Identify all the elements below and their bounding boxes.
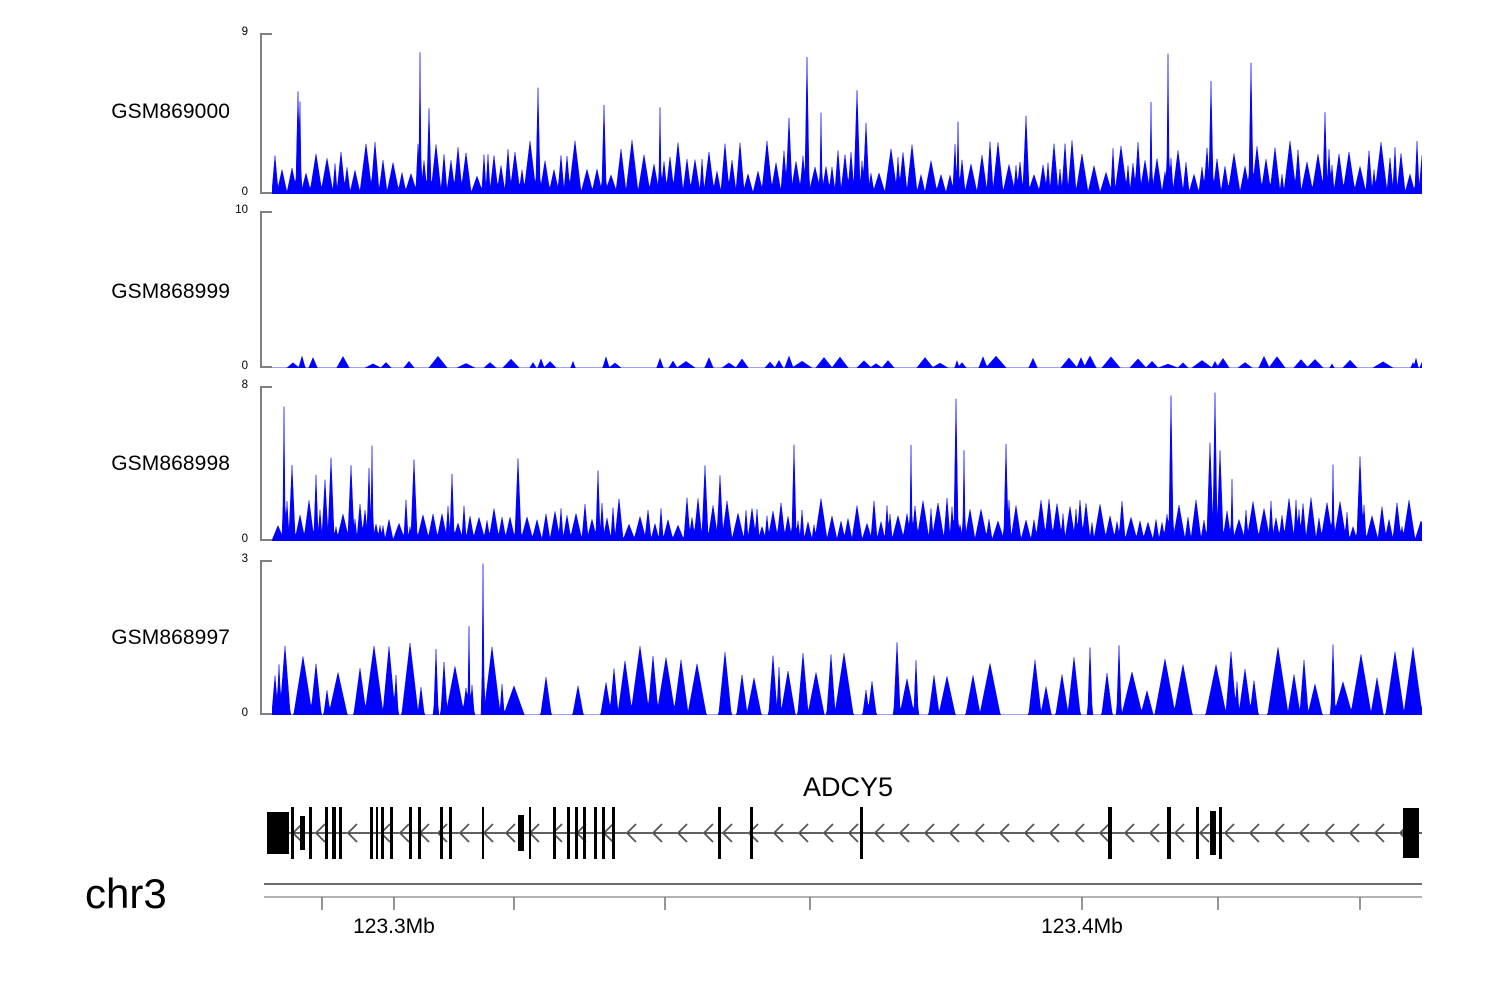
- track-label-gsm869000: GSM869000: [60, 100, 230, 124]
- track-label-gsm868999: GSM868999: [60, 280, 230, 304]
- track-label-gsm868998: GSM868998: [60, 452, 230, 476]
- axis-max-gsm868999: 10: [192, 204, 248, 216]
- coverage-plot-gsm868999[interactable]: [272, 211, 1422, 368]
- axis-min-gsm869000: 0: [192, 186, 248, 198]
- coverage-plot-gsm868998[interactable]: [272, 386, 1422, 541]
- genome-browser-view: GSM86900090GSM868999100GSM86899880GSM868…: [0, 0, 1500, 980]
- axis-bracket-gsm869000: [260, 33, 272, 194]
- track-label-gsm868997: GSM868997: [60, 626, 230, 650]
- coordinate-axis[interactable]: [0, 878, 1500, 978]
- axis-max-gsm869000: 9: [192, 26, 248, 38]
- axis-bracket-gsm868998: [260, 386, 272, 541]
- axis-min-gsm868999: 0: [192, 360, 248, 372]
- axis-tick-label: 123.4Mb: [982, 915, 1182, 939]
- axis-min-gsm868997: 0: [192, 707, 248, 719]
- coverage-plot-gsm869000[interactable]: [272, 33, 1422, 194]
- axis-max-gsm868998: 8: [192, 379, 248, 391]
- axis-min-gsm868998: 0: [192, 533, 248, 545]
- axis-max-gsm868997: 3: [192, 553, 248, 565]
- gene-name-label: ADCY5: [698, 772, 998, 803]
- axis-bracket-gsm868997: [260, 560, 272, 715]
- coverage-plot-gsm868997[interactable]: [272, 560, 1422, 715]
- gene-model-track[interactable]: [0, 800, 1500, 870]
- axis-tick-label: 123.3Mb: [294, 915, 494, 939]
- axis-bracket-gsm868999: [260, 211, 272, 368]
